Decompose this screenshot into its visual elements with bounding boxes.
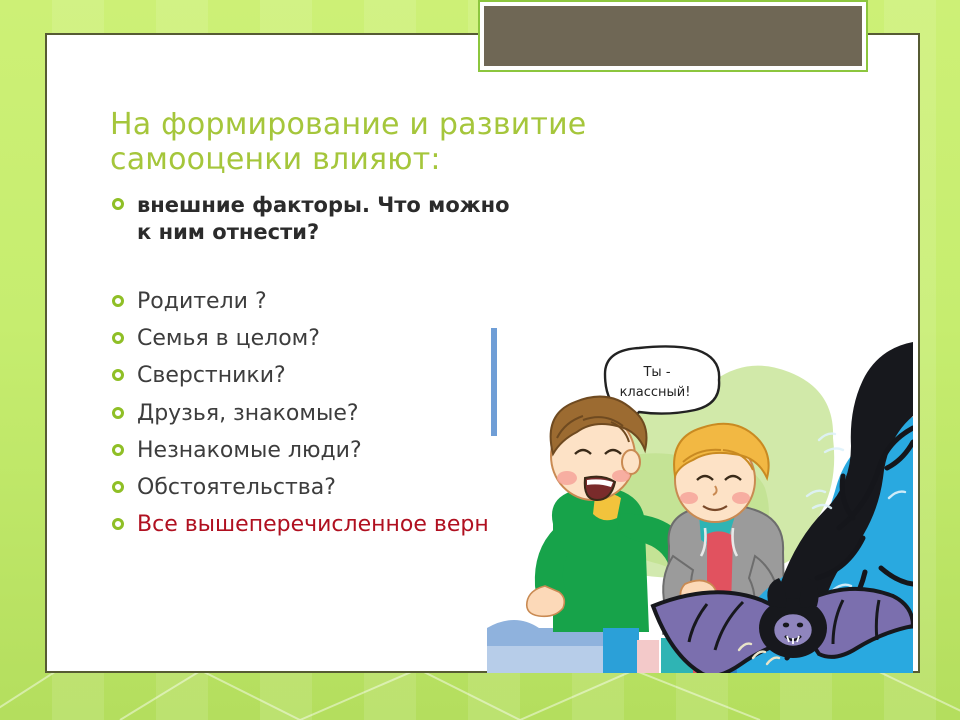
list-spacer — [112, 317, 512, 325]
list-spacer — [112, 466, 512, 474]
list-item-label: Друзья, знакомые? — [137, 400, 512, 427]
list-item[interactable]: внешние факторы. Что можно к ним отнести… — [112, 192, 512, 246]
bullet-circle-icon — [112, 444, 124, 456]
illustration: Ты - классный! — [487, 328, 913, 673]
list-item[interactable]: Все вышеперечисленное верно — [112, 511, 512, 538]
bullet-circle-icon — [112, 295, 124, 307]
list-item-label: Семья в целом? — [137, 325, 512, 352]
bullet-circle-icon — [112, 481, 124, 493]
bullet-circle-icon — [112, 332, 124, 344]
bullet-circle-icon — [112, 407, 124, 419]
top-right-rectangle — [478, 0, 868, 72]
list-item-label: Родители ? — [137, 288, 512, 315]
list-spacer — [112, 503, 512, 511]
list-spacer — [112, 248, 512, 288]
list-item[interactable]: Незнакомые люди? — [112, 437, 512, 464]
svg-text:Ты -: Ты - — [642, 365, 670, 380]
list-spacer — [112, 392, 512, 400]
bullet-circle-icon — [112, 518, 124, 530]
list-item[interactable]: Друзья, знакомые? — [112, 400, 512, 427]
list-item[interactable]: Родители ? — [112, 288, 512, 315]
svg-text:классный!: классный! — [620, 385, 691, 400]
page-title: На формирование и развитие самооценки вл… — [110, 107, 750, 178]
list-item[interactable]: Обстоятельства? — [112, 474, 512, 501]
bullet-list: внешние факторы. Что можно к ним отнести… — [112, 192, 512, 541]
top-rect-fill — [484, 6, 862, 66]
list-item-label: внешние факторы. Что можно к ним отнести… — [137, 192, 512, 246]
slide: На формирование и развитие самооценки вл… — [0, 0, 960, 720]
list-item-label: Незнакомые люди? — [137, 437, 512, 464]
list-item[interactable]: Сверстники? — [112, 362, 512, 389]
list-item-label: Обстоятельства? — [137, 474, 512, 501]
bullet-circle-icon — [112, 369, 124, 381]
list-spacer — [112, 354, 512, 362]
list-spacer — [112, 429, 512, 437]
list-item-label: Все вышеперечисленное верно — [137, 511, 512, 538]
list-item-label: Сверстники? — [137, 362, 512, 389]
bullet-circle-icon — [112, 198, 124, 210]
list-item[interactable]: Семья в целом? — [112, 325, 512, 352]
